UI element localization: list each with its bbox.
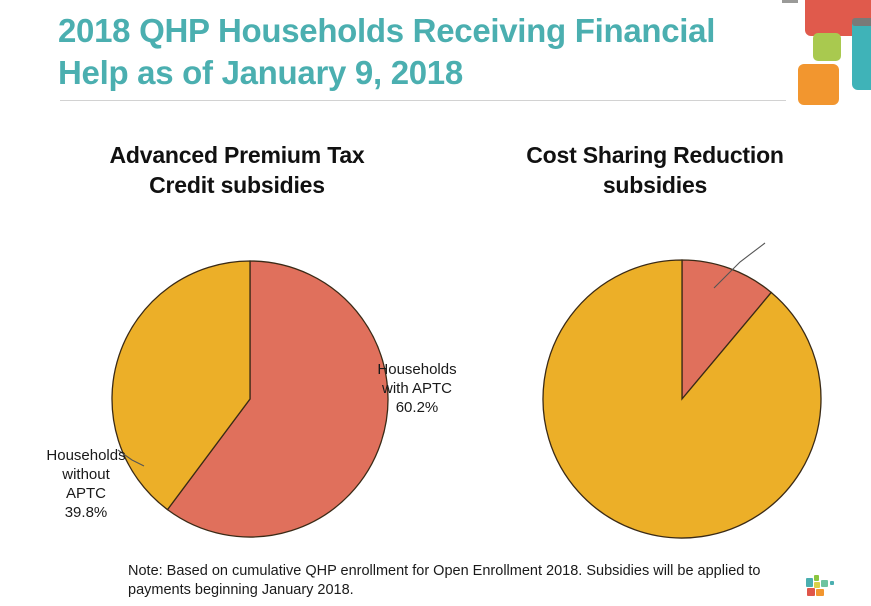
footnote: Note: Based on cumulative QHP enrollment… [128, 562, 798, 600]
decor-square-green [813, 33, 841, 61]
decor-top-line [782, 0, 798, 3]
chart-panel-aptc: Advanced Premium Tax Credit subsidies Ho… [22, 130, 452, 560]
title-divider [60, 100, 786, 101]
pie-slices-csr [543, 260, 821, 538]
slide-canvas: 2018 QHP Households Receiving Financial … [0, 0, 871, 606]
pie-slice-csr-without[interactable] [543, 260, 821, 538]
decor-square-orange [798, 64, 839, 105]
page-title-line-1: 2018 QHP Households Receiving Financial [58, 10, 788, 52]
chart-panel-csr: Cost Sharing Reduction subsidies Househo… [440, 130, 870, 560]
page-title: 2018 QHP Households Receiving Financial … [58, 10, 788, 94]
pie-slices-aptc [112, 261, 388, 537]
decor-square-gray [852, 18, 871, 26]
pie-svg-csr [440, 130, 870, 560]
label-aptc-without: Households without APTC 39.8% [32, 446, 140, 522]
page-title-line-2: Help as of January 9, 2018 [58, 52, 788, 94]
organization-logo-icon [803, 573, 839, 599]
pie-chart-csr [440, 130, 870, 560]
decor-square-teal [852, 18, 871, 90]
